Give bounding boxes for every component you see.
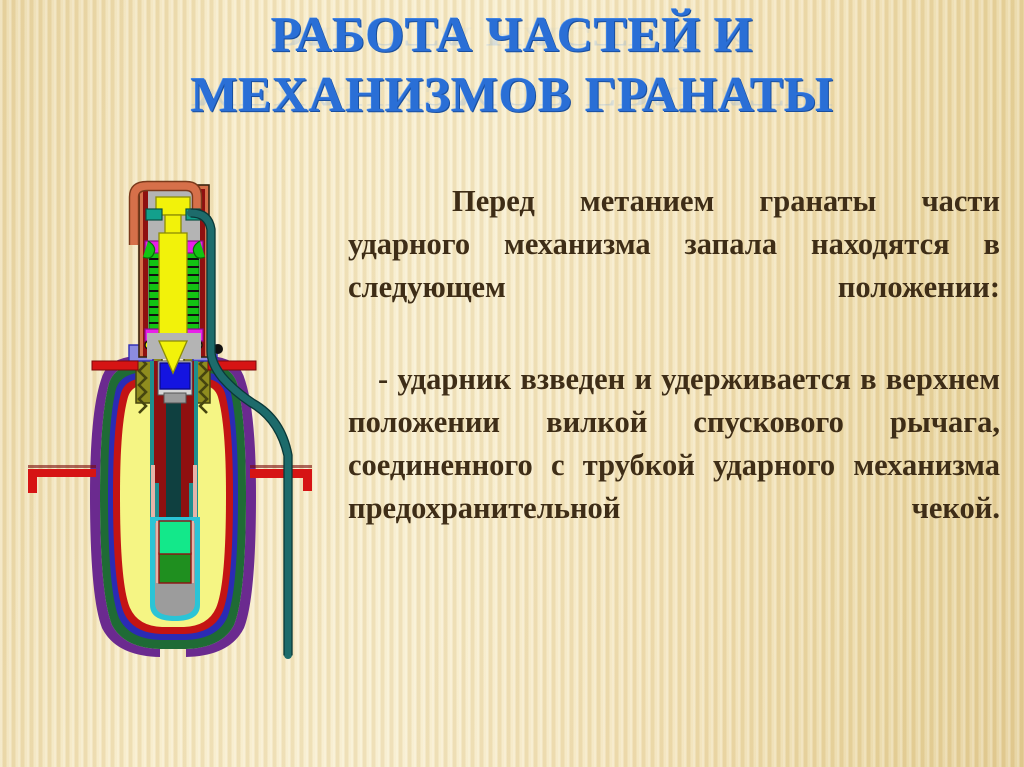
paragraph-2: - ударник взведен и удерживается в верхн…	[348, 358, 1000, 573]
lever-fork-left	[146, 209, 162, 220]
body-text-column: Перед метанием гранаты части ударного ме…	[348, 180, 1000, 579]
title-line-2: механизмов гранаты	[0, 66, 1024, 122]
detonator-dark-charge	[159, 553, 191, 583]
right-pointer-tab	[250, 465, 312, 491]
striker-shaft	[159, 233, 187, 341]
title-line-2-wrapper: механизмов гранаты механизмов гранаты	[0, 66, 1024, 138]
detonator-bright-charge	[159, 521, 191, 554]
detonator-assembly	[150, 517, 200, 621]
paragraph-1: Перед метанием гранаты части ударного ме…	[348, 180, 1000, 352]
left-pointer-tab	[28, 465, 96, 493]
slide-title: Работа частей и Работа частей и механизм…	[0, 2, 1024, 152]
grenade-cutaway-svg	[8, 165, 338, 685]
grenade-cutaway-diagram	[8, 165, 338, 685]
title-line-1: Работа частей и	[0, 6, 1024, 62]
